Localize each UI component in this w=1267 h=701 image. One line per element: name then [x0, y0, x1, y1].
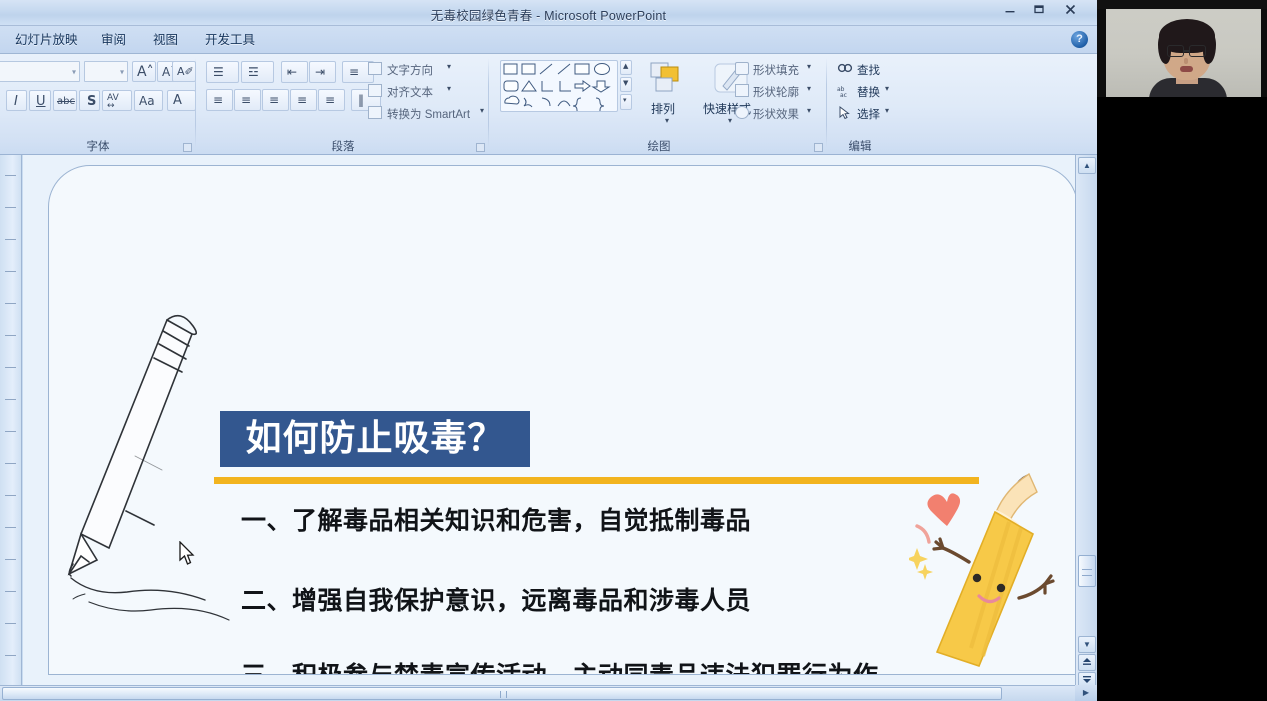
ribbon: A˄ A˅ A✐ I U abc S AV ↔ Aa — [0, 54, 1097, 155]
ribbon-tab-strip: 幻灯片放映 审阅 视图 开发工具 ? — [0, 26, 1097, 54]
font-size-combo[interactable] — [84, 61, 128, 82]
group-separator — [195, 58, 196, 148]
vertical-ruler — [0, 155, 22, 685]
presenter-glasses-bridge — [1184, 50, 1189, 52]
underline-button[interactable]: U — [29, 90, 51, 111]
slide-bullet-2[interactable]: 二、增强自我保护意识，远离毒品和涉毒人员 — [241, 581, 751, 617]
svg-text:ac: ac — [840, 92, 847, 98]
replace-chevron-down-icon[interactable]: ▾ — [885, 84, 889, 93]
select-label[interactable]: 选择 — [857, 106, 880, 122]
align-text-chevron-down-icon[interactable]: ▾ — [447, 84, 451, 93]
slide-bullet-3[interactable]: 三、积极参与禁毒宣传活动，主动同毒品违法犯罪行为作 — [241, 656, 879, 675]
scroll-down-button[interactable]: ▼ — [1078, 636, 1096, 653]
group-label-editing: 编辑 — [829, 138, 891, 154]
video-top-letterbox — [1097, 0, 1267, 9]
ribbon-group-paragraph: ☰ ☲ ⇤ ⇥ ≡ ≡ ≡ ≡ ≡ ≡ — [197, 54, 489, 155]
slide-bullet-1[interactable]: 一、了解毒品相关知识和危害，自觉抵制毒品 — [241, 501, 751, 537]
decrease-indent-button[interactable]: ⇤ — [281, 61, 308, 83]
group-label-font: 字体 — [0, 138, 196, 154]
shape-effects-label[interactable]: 形状效果 — [753, 106, 799, 122]
find-icon — [837, 62, 853, 76]
font-dialog-launcher[interactable] — [183, 143, 192, 152]
ribbon-group-drawing: ▲ ▼ ▾ 排列 ▾ — [491, 54, 827, 155]
increase-indent-button[interactable]: ⇥ — [309, 61, 336, 83]
align-text-icon — [368, 84, 382, 97]
drawing-dialog-launcher[interactable] — [814, 143, 823, 152]
align-text-label[interactable]: 对齐文本 — [387, 84, 433, 100]
align-right-button[interactable]: ≡ — [262, 89, 289, 111]
strikethrough-button[interactable]: abc — [53, 90, 77, 111]
convert-smartart-label[interactable]: 转换为 SmartArt — [387, 106, 470, 122]
arrange-label: 排列 — [651, 100, 675, 117]
arrange-chevron-down-icon: ▾ — [665, 116, 669, 125]
tab-review[interactable]: 审阅 — [94, 30, 133, 51]
ribbon-group-font: A˄ A˅ A✐ I U abc S AV ↔ Aa — [0, 54, 196, 155]
shape-effects-chevron-down-icon[interactable]: ▾ — [807, 106, 811, 115]
smartart-icon — [368, 106, 382, 119]
distributed-button[interactable]: ≡ — [318, 89, 345, 111]
shape-outline-chevron-down-icon[interactable]: ▾ — [807, 84, 811, 93]
presenter-nose — [1184, 58, 1188, 64]
presenter-glasses-right-lens — [1189, 45, 1206, 57]
character-spacing-button[interactable]: AV ↔ — [102, 90, 132, 111]
previous-slide-button[interactable] — [1078, 654, 1096, 671]
video-right-letterbox — [1261, 0, 1267, 97]
webcam-panel — [1097, 0, 1267, 701]
bullets-button[interactable]: ☰ — [206, 61, 239, 83]
presenter-video — [1097, 0, 1267, 97]
slide-pane[interactable]: 如何防止吸毒？ 一、了解毒品相关知识和危害，自觉抵制毒品 二、增强自我保护意识，… — [23, 155, 1075, 685]
slide-title: 如何防止吸毒？ — [220, 411, 530, 467]
group-label-drawing: 绘图 — [491, 138, 827, 154]
find-label[interactable]: 查找 — [857, 62, 880, 78]
screen: 无毒校园绿色青春 - Microsoft PowerPoint 幻灯片放映 审阅… — [0, 0, 1267, 701]
scroll-up-button[interactable]: ▲ — [1078, 157, 1096, 174]
align-center-button[interactable]: ≡ — [234, 89, 261, 111]
replace-label[interactable]: 替换 — [857, 84, 880, 100]
help-icon[interactable]: ? — [1071, 31, 1088, 48]
select-pointer-icon — [838, 106, 852, 120]
align-left-button[interactable]: ≡ — [206, 89, 233, 111]
ribbon-group-editing: 查找 ab ac 替换 ▾ 选择 ▾ 编辑 — [829, 54, 891, 155]
horizontal-scroll-thumb[interactable] — [2, 687, 1002, 700]
mouse-cursor — [177, 541, 199, 567]
presenter-mouth — [1180, 66, 1193, 72]
minimize-button[interactable] — [997, 3, 1023, 22]
tab-developer[interactable]: 开发工具 — [198, 30, 262, 51]
maximize-restore-button[interactable] — [1026, 3, 1052, 22]
horizontal-scrollbar[interactable] — [0, 685, 1075, 701]
sketched-pencil-illustration — [59, 306, 259, 675]
text-direction-label[interactable]: 文字方向 — [387, 62, 433, 78]
numbering-button[interactable]: ☲ — [241, 61, 274, 83]
shape-fill-icon — [735, 62, 749, 75]
vertical-scroll-thumb[interactable] — [1078, 555, 1096, 587]
close-button[interactable] — [1057, 3, 1083, 22]
shape-fill-chevron-down-icon[interactable]: ▾ — [807, 62, 811, 71]
title-bar: 无毒校园绿色青春 - Microsoft PowerPoint — [0, 0, 1097, 26]
text-direction-icon — [368, 62, 382, 75]
text-shadow-button[interactable]: S — [79, 90, 100, 111]
justify-button[interactable]: ≡ — [290, 89, 317, 111]
video-left-letterbox — [1097, 0, 1106, 97]
grow-font-button[interactable]: A˄ — [132, 61, 156, 82]
shape-fill-label[interactable]: 形状填充 — [753, 62, 799, 78]
shapes-gallery[interactable] — [500, 60, 618, 112]
vertical-scrollbar[interactable]: ▲ ▼ — [1075, 155, 1097, 701]
italic-button[interactable]: I — [6, 90, 27, 111]
window-title: 无毒校园绿色青春 - Microsoft PowerPoint — [0, 5, 1097, 24]
group-label-paragraph: 段落 — [197, 138, 489, 154]
slide-title-box[interactable]: 如何防止吸毒？ — [220, 411, 530, 467]
smartart-chevron-down-icon[interactable]: ▾ — [480, 106, 484, 115]
clear-formatting-button[interactable]: A✐ — [172, 61, 196, 82]
presenter-glasses-left-lens — [1167, 45, 1184, 57]
shape-outline-icon — [735, 84, 749, 97]
group-separator — [826, 58, 827, 148]
shape-effects-icon — [735, 106, 749, 119]
select-chevron-down-icon[interactable]: ▾ — [885, 106, 889, 115]
text-direction-chevron-down-icon[interactable]: ▾ — [447, 62, 451, 71]
cartoon-pencil-mascot — [909, 466, 1075, 675]
tab-view[interactable]: 视图 — [146, 30, 185, 51]
quick-styles-chevron-down-icon: ▾ — [728, 116, 732, 125]
change-case-button[interactable]: Aa — [134, 90, 163, 111]
tab-slideshow[interactable]: 幻灯片放映 — [8, 30, 85, 51]
shapes-more-button[interactable]: ▾ — [620, 94, 632, 110]
slide-canvas[interactable]: 如何防止吸毒？ 一、了解毒品相关知识和危害，自觉抵制毒品 二、增强自我保护意识，… — [48, 165, 1075, 675]
horizontal-scroll-right-button[interactable]: ▶ — [1075, 685, 1097, 701]
arrange-button[interactable]: 排列 ▾ — [643, 60, 695, 134]
powerpoint-window: 无毒校园绿色青春 - Microsoft PowerPoint 幻灯片放映 审阅… — [0, 0, 1097, 701]
font-name-combo[interactable] — [0, 61, 80, 82]
group-separator — [488, 58, 489, 148]
shape-outline-label[interactable]: 形状轮廓 — [753, 84, 799, 100]
slide-work-area: 如何防止吸毒？ 一、了解毒品相关知识和危害，自觉抵制毒品 二、增强自我保护意识，… — [0, 155, 1097, 701]
shapes-scroll-down-button[interactable]: ▼ — [620, 77, 632, 92]
font-color-button[interactable]: A — [167, 90, 196, 111]
title-underline-rule — [214, 477, 979, 484]
shapes-scroll-up-button[interactable]: ▲ — [620, 60, 632, 75]
replace-icon: ab ac — [837, 84, 853, 98]
paragraph-dialog-launcher[interactable] — [476, 143, 485, 152]
